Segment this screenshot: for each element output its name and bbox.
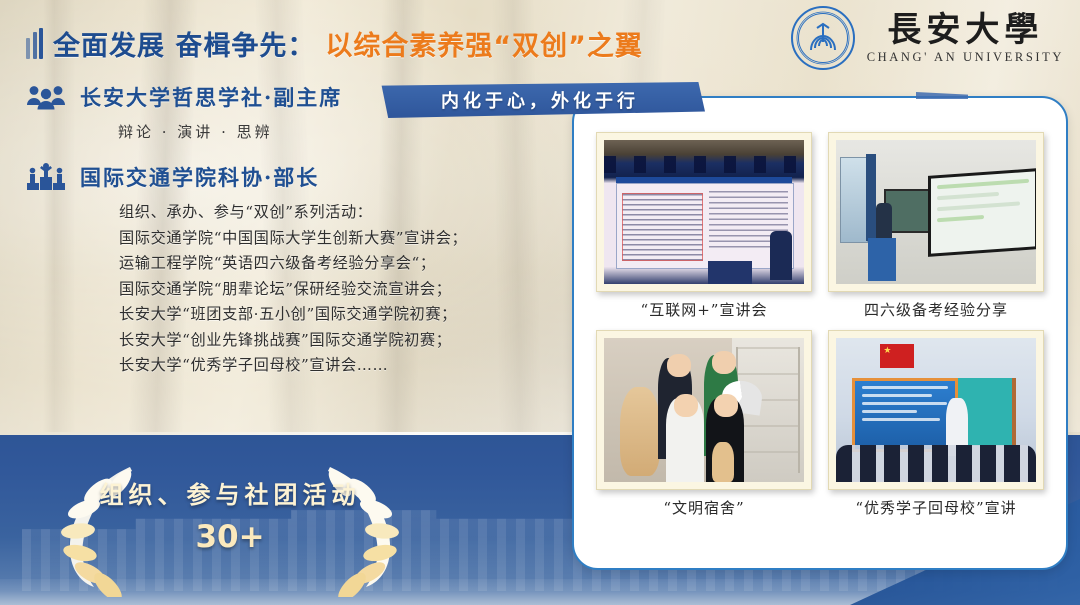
chang-an-university-seal-icon xyxy=(791,6,855,70)
badge-count: 30+ xyxy=(40,519,420,555)
brand-name-en: CHANG' AN UNIVERSITY xyxy=(867,51,1064,64)
photo-caption: 四六级备考经验分享 xyxy=(828,299,1044,320)
section-science-association: 国际交通学院科协·部长 xyxy=(26,162,571,192)
photo-frame xyxy=(828,330,1044,490)
photo-caption: “文明宿舍” xyxy=(596,497,812,518)
brand-lockup: 長安大學 CHANG' AN UNIVERSITY xyxy=(791,6,1064,70)
list-item: 长安大学“创业先锋挑战赛”国际交通学院初赛； xyxy=(119,328,571,350)
photo-card[interactable]: “文明宿舍” xyxy=(596,330,812,518)
section-heading: 国际交通学院科协·部长 xyxy=(80,162,319,192)
list-item: 长安大学“优秀学子回母校”宣讲会…… xyxy=(119,353,571,375)
list-item: 长安大学“班团支部·五小创”国际交通学院初赛； xyxy=(119,302,571,324)
section-subtitle: 辩论 · 演讲 · 思辨 xyxy=(118,121,571,142)
photo-frame xyxy=(596,132,812,292)
section-heading: 长安大学哲思学社·副主席 xyxy=(80,82,342,112)
photo-card[interactable]: 四六级备考经验分享 xyxy=(828,132,1044,320)
list-item: 组织、承办、参与“双创”系列活动： xyxy=(119,200,571,222)
photo-card[interactable]: “优秀学子回母校”宣讲 xyxy=(828,330,1044,518)
photo-grid: “互联网+”宣讲会 四六级备考经验分享 xyxy=(596,132,1044,518)
activity-list: 组织、承办、参与“双创”系列活动： 国际交通学院“中国国际大学生创新大赛”宣讲会… xyxy=(119,200,571,375)
photo-frame xyxy=(828,132,1044,292)
photo-caption: “互联网+”宣讲会 xyxy=(596,299,812,320)
page-title-main: 全面发展 奋楫争先： xyxy=(53,24,315,63)
podium-winner-icon xyxy=(26,162,66,192)
achievement-badge: 组织、参与社团活动 30+ xyxy=(40,447,420,597)
photo-cet-sharing xyxy=(836,140,1036,284)
photo-card[interactable]: “互联网+”宣讲会 xyxy=(596,132,812,320)
list-item: 运输工程学院“英语四六级备考经验分享会“； xyxy=(119,251,571,273)
bar-chart-icon xyxy=(26,29,43,59)
photo-frame xyxy=(596,330,812,490)
photo-internet-plus xyxy=(604,140,804,284)
list-item: 国际交通学院“朋辈论坛”保研经验交流宣讲会； xyxy=(119,277,571,299)
left-content: 长安大学哲思学社·副主席 辩论 · 演讲 · 思辨 国际交通学院科协·部长 组织… xyxy=(26,82,571,379)
page-title: 全面发展 奋楫争先： 以综合素养强“双创”之翼 xyxy=(26,24,643,63)
list-item: 国际交通学院“中国国际大学生创新大赛”宣讲会； xyxy=(119,226,571,248)
slide-root: 全面发展 奋楫争先： 以综合素养强“双创”之翼 長安大學 CHANG' AN U… xyxy=(0,0,1080,605)
panel-ribbon-label: 内化于心，外化于行 xyxy=(441,87,639,113)
brand-name-cn: 長安大學 xyxy=(887,13,1043,47)
page-title-accent: 以综合素养强“双创”之翼 xyxy=(325,24,643,63)
photo-caption: “优秀学子回母校”宣讲 xyxy=(828,497,1044,518)
photo-alumni-return xyxy=(836,338,1036,482)
photo-civilized-dorm xyxy=(604,338,804,482)
people-group-icon xyxy=(26,84,66,110)
badge-label: 组织、参与社团活动 xyxy=(40,475,420,510)
